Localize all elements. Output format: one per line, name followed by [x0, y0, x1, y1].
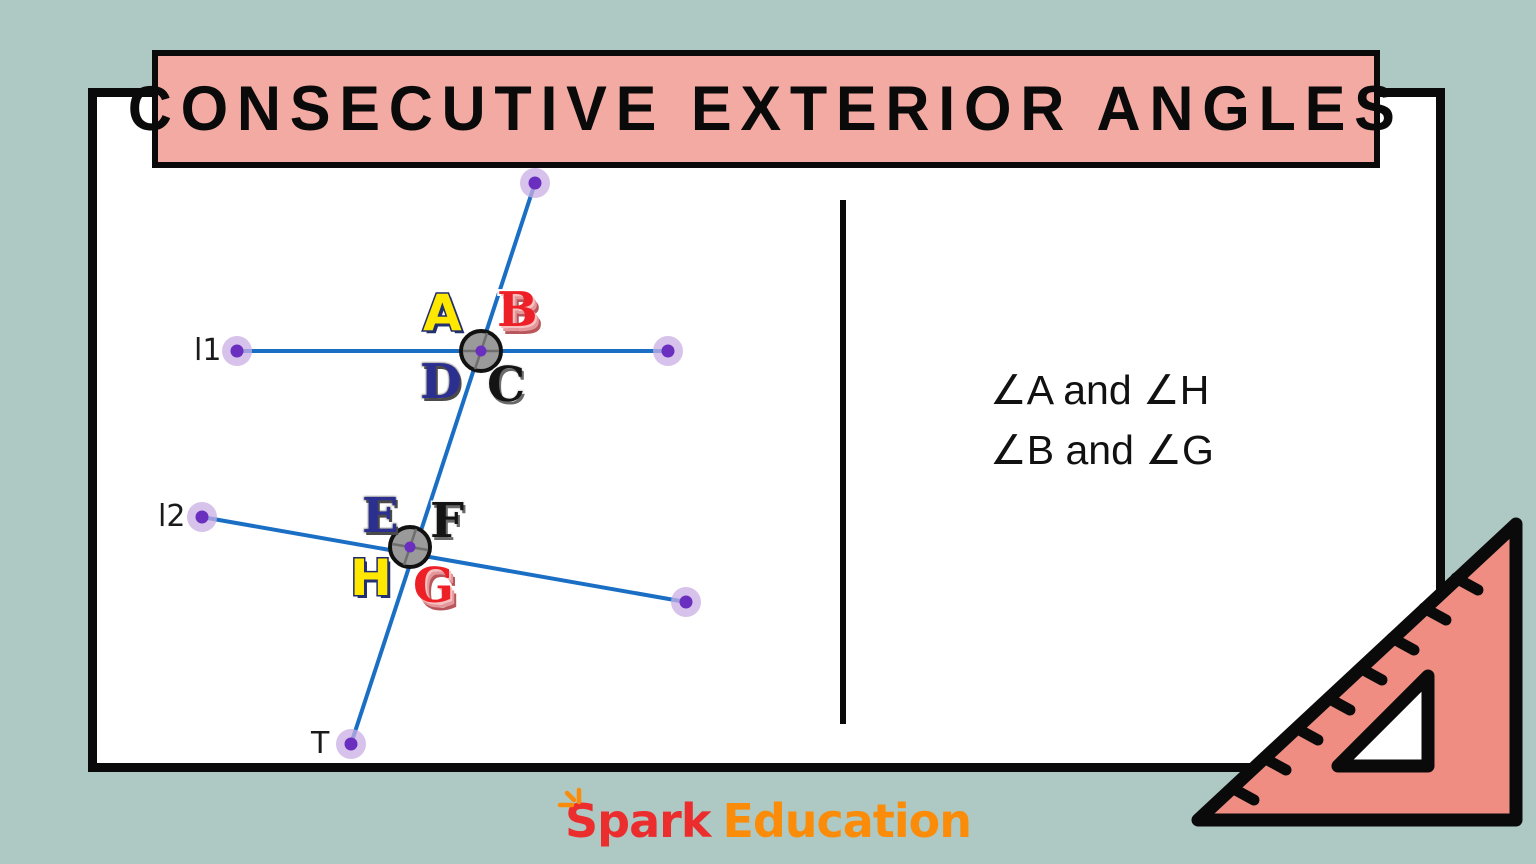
angle-label-b: B [497, 286, 538, 334]
page-title: CONSECUTIVE EXTERIOR ANGLES [128, 73, 1404, 145]
logo-word-spark: Spark [565, 794, 710, 848]
label-point-t: T [311, 726, 329, 761]
angle-label-h: H [350, 553, 392, 603]
answer-line-2: ∠B and ∠G [940, 420, 1360, 480]
angle-label-d: D [420, 358, 462, 406]
angle-label-g: G [413, 562, 454, 610]
vertical-divider [840, 200, 846, 724]
label-line-l1: l1 [194, 333, 221, 368]
answer-list: ∠A and ∠H ∠B and ∠G [940, 360, 1360, 480]
angle-label-f: F [430, 497, 464, 545]
angle-label-a: A [423, 288, 462, 338]
answer-line-1: ∠A and ∠H [940, 360, 1360, 420]
brand-logo: Spark Education [0, 790, 1536, 852]
title-banner: CONSECUTIVE EXTERIOR ANGLES [152, 50, 1380, 168]
angle-label-c: C [487, 361, 525, 409]
angle-label-e: E [362, 492, 399, 540]
label-line-l2: l2 [158, 499, 185, 534]
logo-word-education: Education [722, 794, 971, 848]
spark-rays-icon [549, 786, 583, 816]
